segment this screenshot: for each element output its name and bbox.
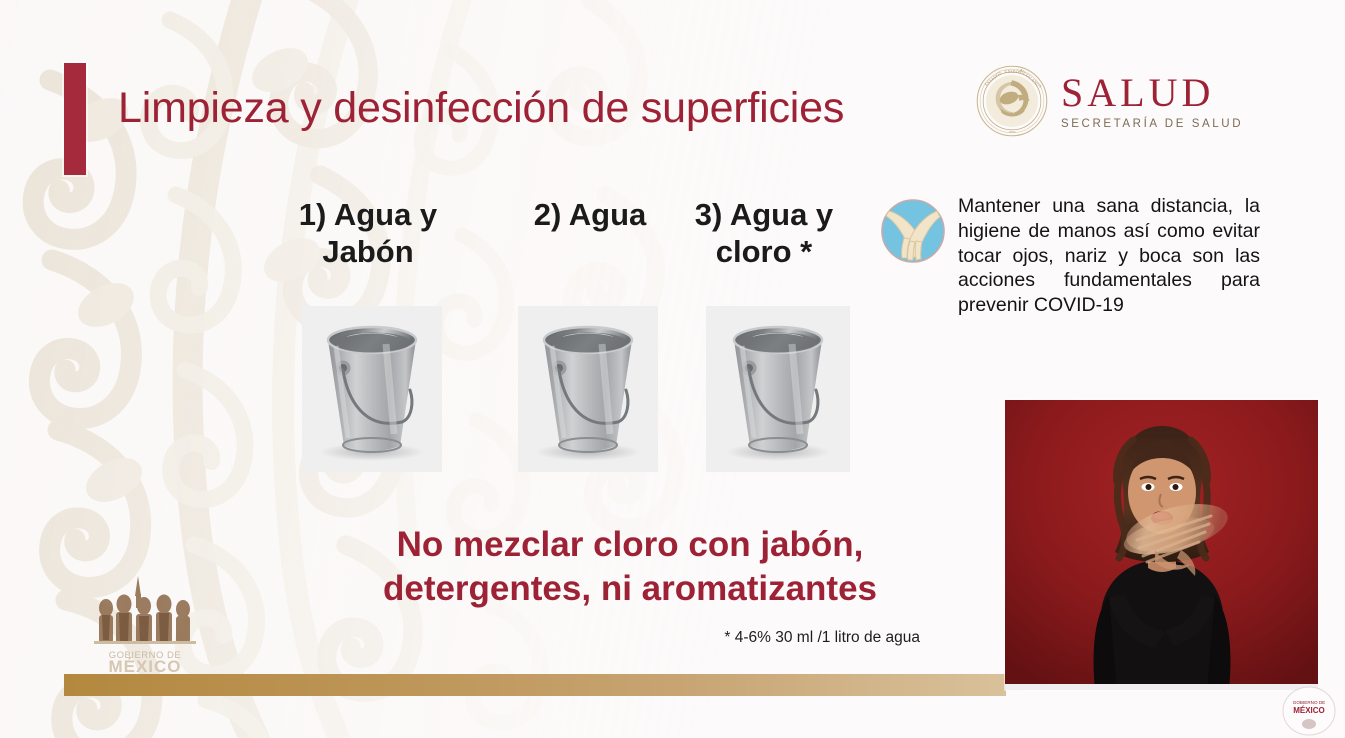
salud-wordmark: SALUD	[1061, 73, 1243, 113]
bucket-image-2	[518, 306, 658, 472]
gobierno-de-mexico-corner-badge: GOBIERNO DE MÉXICO	[1281, 686, 1337, 736]
step-3-label: 3) Agua y cloro *	[674, 196, 854, 270]
step-2-label: 2) Agua	[500, 196, 680, 233]
warning-text: No mezclar cloro con jabón, detergentes,…	[340, 523, 920, 612]
badge-label-bottom: MÉXICO	[1293, 706, 1325, 715]
salud-subtitle: SECRETARÍA DE SALUD	[1061, 118, 1243, 130]
bucket-image-3	[706, 306, 850, 472]
salud-logo: ESTADOS UNIDOS MEXICANOS 1950 SALUD SECR…	[975, 64, 1243, 138]
mexican-coat-of-arms-seal-icon: ESTADOS UNIDOS MEXICANOS 1950	[975, 64, 1049, 138]
footnote-text: * 4-6% 30 ml /1 litro de agua	[560, 629, 920, 647]
step-1-label: 1) Agua y Jabón	[268, 196, 468, 270]
presentation-slide: Limpieza y desinfección de superficies E…	[0, 0, 1345, 738]
prevention-info-block: Mantener una sana distancia, la higiene …	[880, 194, 1260, 318]
svg-text:1950: 1950	[1009, 130, 1016, 134]
sign-language-interpreter-video[interactable]	[1005, 400, 1318, 690]
page-title: Limpieza y desinfección de superficies	[118, 84, 844, 133]
handwashing-icon	[880, 198, 946, 264]
title-accent-bar	[64, 63, 86, 175]
badge-label-top: GOBIERNO DE	[1293, 700, 1325, 705]
prevention-info-text: Mantener una sana distancia, la higiene …	[958, 194, 1260, 318]
gold-divider-bar	[64, 674, 1006, 696]
bucket-image-1	[302, 306, 442, 472]
gobierno-de-mexico-logo: GOBIERNO DE MÉXICO	[86, 566, 204, 676]
